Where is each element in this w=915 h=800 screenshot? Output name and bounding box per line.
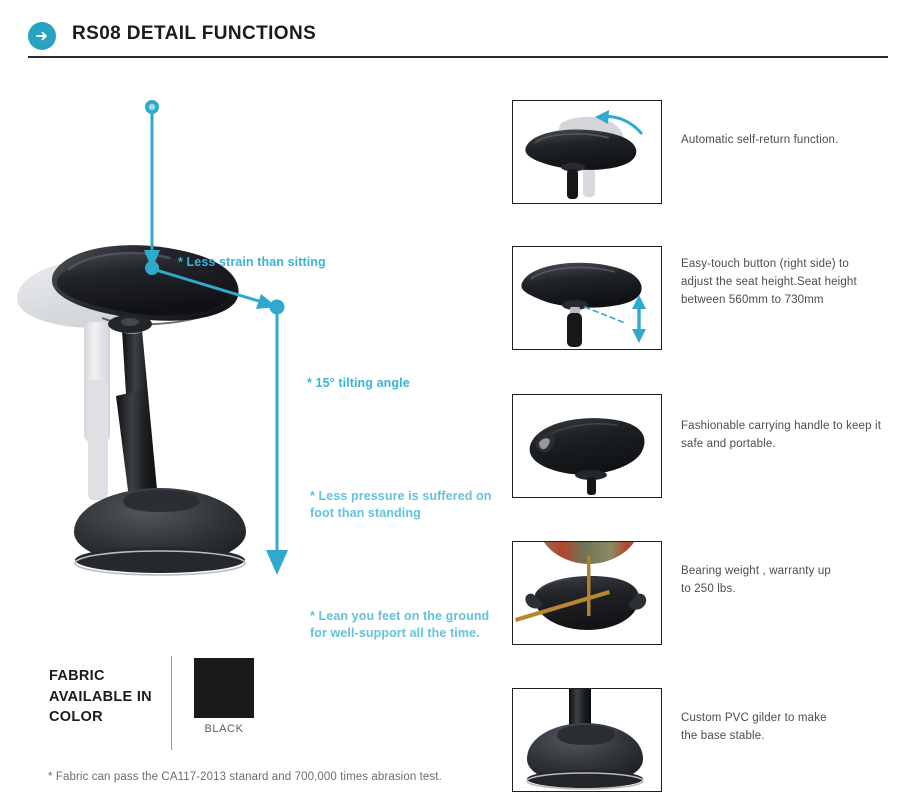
header-divider: [28, 56, 888, 58]
callout-lean-feet: * Lean you feet on the ground for well-s…: [310, 608, 489, 641]
feature-image-bearing-weight: [512, 541, 662, 645]
feature-caption-self-return: Automatic self-return function.: [681, 132, 886, 150]
feature-image-carry-handle: [512, 394, 662, 498]
feature-caption-bearing-weight: Bearing weight , warranty up to 250 lbs.: [681, 563, 886, 599]
callout-less-pressure: * Less pressure is suffered on foot than…: [310, 488, 492, 521]
product-spec-sheet: RS08 DETAIL FUNCTIONS: [0, 0, 915, 800]
arrow-right-circle-icon: [28, 22, 56, 50]
fabric-section-title: FABRIC AVAILABLE IN COLOR: [49, 666, 152, 728]
feature-caption-pvc-gilder: Custom PVC gilder to make the base stabl…: [681, 710, 886, 746]
fabric-divider: [171, 656, 172, 750]
callout-tilting-angle: * 15° tilting angle: [307, 375, 410, 392]
feature-image-height-adjust: [512, 246, 662, 350]
fabric-footnote: * Fabric can pass the CA117-2013 stanard…: [48, 771, 442, 783]
fabric-swatch-black[interactable]: [194, 658, 254, 718]
feature-caption-height-adjust: Easy-touch button (right side) to adjust…: [681, 256, 886, 309]
page-title: RS08 DETAIL FUNCTIONS: [72, 23, 316, 45]
feature-image-self-return: [512, 100, 662, 204]
feature-caption-carry-handle: Fashionable carrying handle to keep it s…: [681, 418, 886, 454]
fabric-swatch-label: BLACK: [194, 723, 254, 735]
feature-image-pvc-gilder: [512, 688, 662, 792]
page-header: RS08 DETAIL FUNCTIONS: [28, 22, 888, 60]
hero-product-image: [10, 230, 280, 590]
